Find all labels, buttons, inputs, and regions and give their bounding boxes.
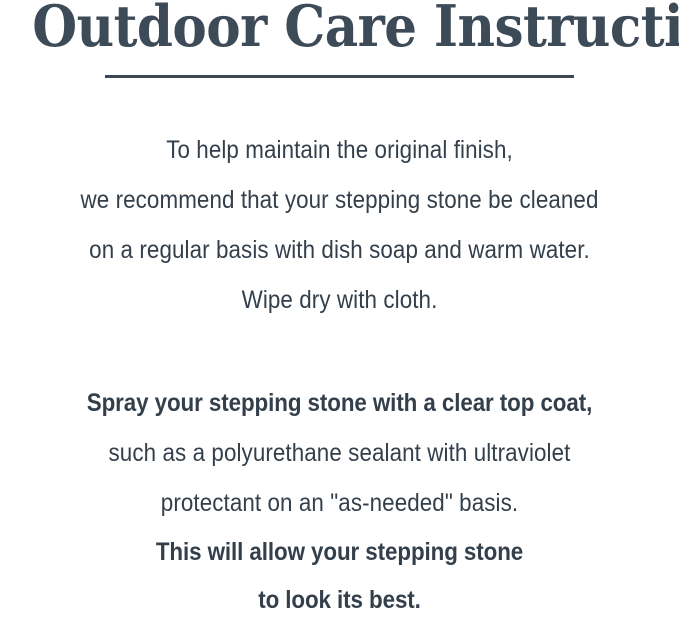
copy-line: we recommend that your stepping stone be… — [36, 175, 644, 225]
copy-line: protectant on an "as-needed" basis. — [36, 478, 644, 528]
page-title: Outdoor Care Instructions — [32, 0, 646, 54]
copy-line: To help maintain the original finish, — [36, 125, 644, 175]
paragraph-cleaning: To help maintain the original finish, we… — [0, 125, 679, 325]
care-instructions-card: Outdoor Care Instructions To help mainta… — [0, 0, 679, 613]
copy-line: Wipe dry with cloth. — [36, 275, 644, 325]
title-block: Outdoor Care Instructions — [0, 0, 679, 78]
paragraph-sealing: Spray your stepping stone with a clear t… — [0, 378, 679, 624]
title-divider — [105, 75, 574, 78]
copy-line-emphasis: This will allow your stepping stone — [36, 528, 644, 576]
copy-line-emphasis: Spray your stepping stone with a clear t… — [36, 378, 644, 428]
copy-line-emphasis: to look its best. — [36, 576, 644, 624]
copy-line: on a regular basis with dish soap and wa… — [36, 225, 644, 275]
copy-line: such as a polyurethane sealant with ultr… — [36, 428, 644, 478]
